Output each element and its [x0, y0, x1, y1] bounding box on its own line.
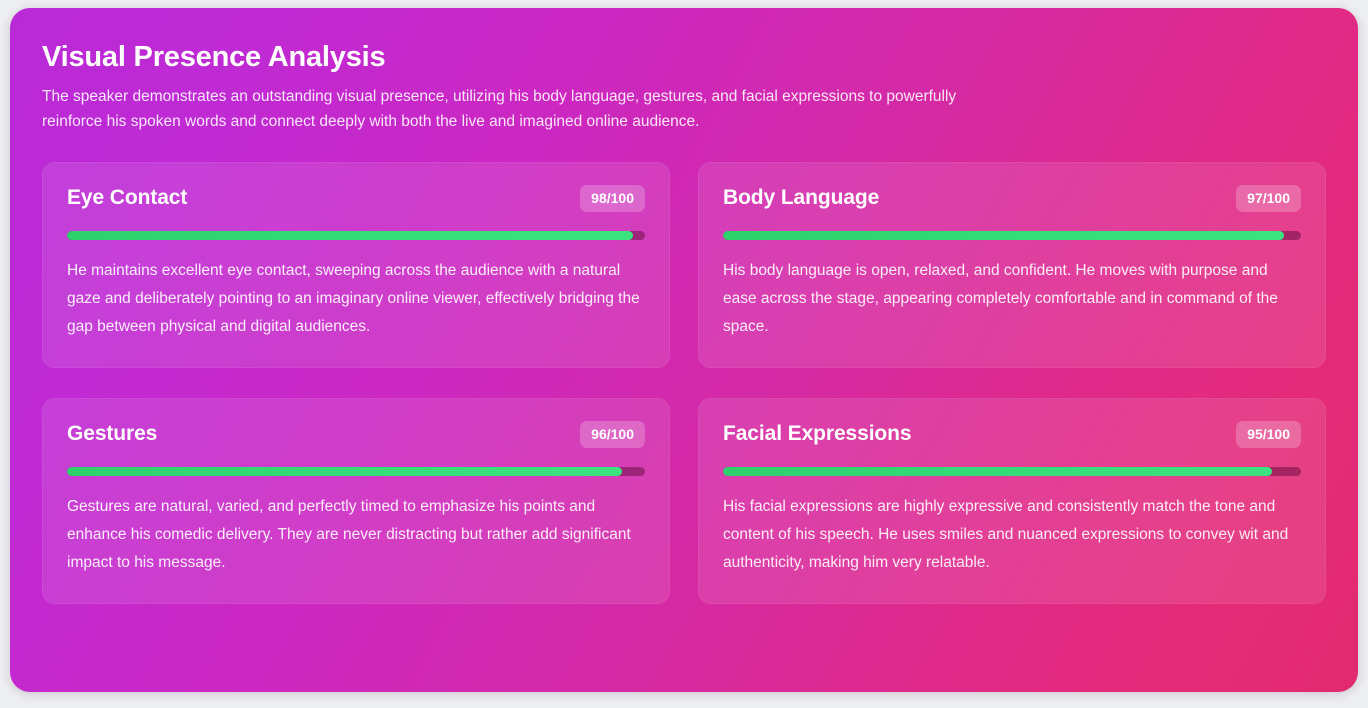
progress-bar-track: [723, 467, 1301, 476]
metric-card-eye-contact[interactable]: Eye Contact 98/100 He maintains excellen…: [42, 162, 670, 368]
status-badge: 98/100: [580, 185, 645, 212]
page-title: Visual Presence Analysis: [42, 42, 1326, 74]
metric-title: Facial Expressions: [723, 422, 911, 446]
visual-presence-panel: Visual Presence Analysis The speaker dem…: [10, 8, 1358, 692]
panel-header: Visual Presence Analysis The speaker dem…: [42, 32, 1326, 134]
metric-title: Body Language: [723, 186, 879, 210]
metric-card-header: Gestures 96/100: [67, 421, 645, 448]
metric-card-body-language[interactable]: Body Language 97/100 His body language i…: [698, 162, 1326, 368]
progress-bar-track: [67, 467, 645, 476]
metric-card-header: Eye Contact 98/100: [67, 185, 645, 212]
status-badge: 95/100: [1236, 421, 1301, 448]
panel-summary-text: The speaker demonstrates an outstanding …: [42, 84, 987, 134]
metric-title: Eye Contact: [67, 186, 187, 210]
progress-bar-track: [67, 231, 645, 240]
status-badge: 96/100: [580, 421, 645, 448]
progress-bar-fill: [723, 467, 1272, 476]
metric-card-header: Facial Expressions 95/100: [723, 421, 1301, 448]
progress-bar-fill: [67, 231, 633, 240]
progress-bar-track: [723, 231, 1301, 240]
progress-bar-fill: [67, 467, 622, 476]
metric-description: His body language is open, relaxed, and …: [723, 257, 1301, 341]
metric-cards-grid: Eye Contact 98/100 He maintains excellen…: [42, 162, 1326, 604]
progress-bar-fill: [723, 231, 1284, 240]
metric-card-gestures[interactable]: Gestures 96/100 Gestures are natural, va…: [42, 398, 670, 604]
status-badge: 97/100: [1236, 185, 1301, 212]
metric-description: Gestures are natural, varied, and perfec…: [67, 493, 645, 577]
metric-title: Gestures: [67, 422, 157, 446]
metric-description: His facial expressions are highly expres…: [723, 493, 1301, 577]
metric-description: He maintains excellent eye contact, swee…: [67, 257, 645, 341]
page-root: Visual Presence Analysis The speaker dem…: [0, 0, 1368, 708]
metric-card-header: Body Language 97/100: [723, 185, 1301, 212]
metric-card-facial-expressions[interactable]: Facial Expressions 95/100 His facial exp…: [698, 398, 1326, 604]
